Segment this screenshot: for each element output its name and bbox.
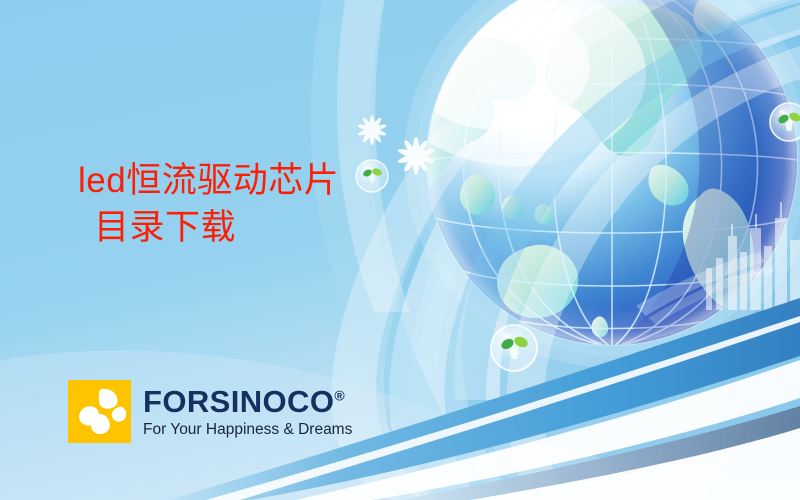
bubble-sprout-right — [770, 103, 800, 141]
logo-wordmark: FORSINOCO® — [143, 386, 352, 417]
logo-wordmark-text: FORSINOCO — [143, 384, 334, 419]
logo-tagline: For Your Happiness & Dreams — [143, 422, 352, 438]
logo-text-block: FORSINOCO® For Your Happiness & Dreams — [143, 386, 352, 438]
bubble-sprout-lower — [491, 325, 537, 371]
bubble-sprout-upper — [356, 160, 388, 192]
company-logo[interactable]: FORSINOCO® For Your Happiness & Dreams — [68, 380, 352, 443]
banner-root: led恒流驱动芯片 目录下载 FORSINOCO® — [0, 0, 800, 500]
registered-trademark-icon: ® — [334, 387, 344, 403]
four-petal-pinwheel-icon — [68, 380, 131, 443]
